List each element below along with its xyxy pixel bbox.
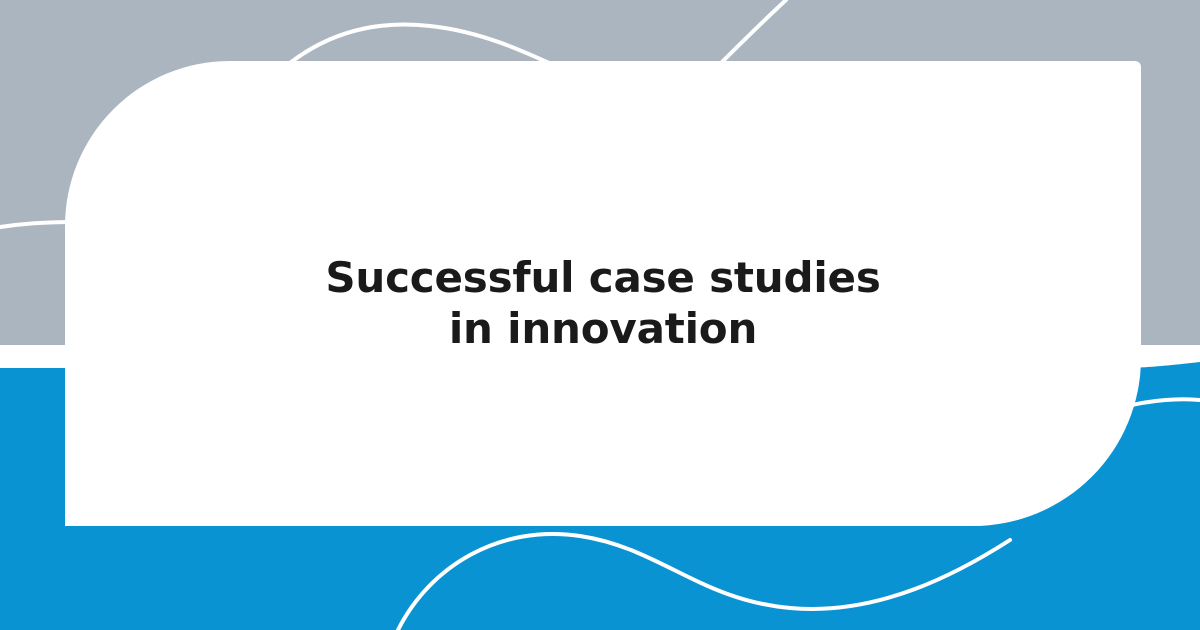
page-title-line-2: in innovation	[185, 303, 1021, 354]
page-title-line-1: Successful case studies	[185, 252, 1021, 303]
share-card-canvas: Successful case studies in innovation	[0, 0, 1200, 630]
page-title: Successful case studies in innovation	[65, 252, 1141, 354]
left-horizontal-line	[0, 222, 70, 228]
headline-block: Successful case studies in innovation	[65, 252, 1141, 354]
